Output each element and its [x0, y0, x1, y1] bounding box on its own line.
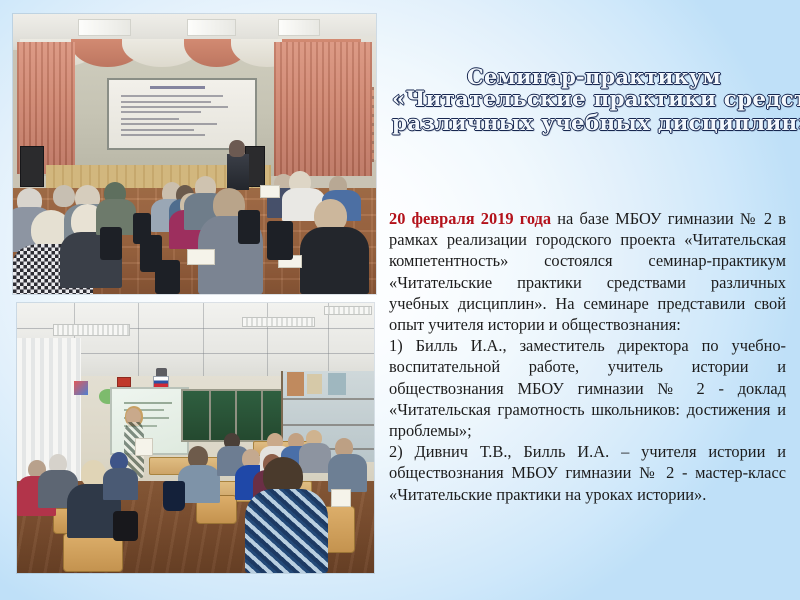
photo-assembly-hall-seminar	[13, 14, 376, 294]
body-paragraph-2: 1) Билль И.А., заместитель директора по …	[389, 335, 786, 441]
classroom-bag-2	[113, 511, 138, 541]
hall-projection-screen	[107, 78, 256, 149]
body-paragraph-3: 2) Дивнич Т.В., Билль И.А. – учителя ист…	[389, 441, 786, 505]
presentation-slide: Семинар-практикум «Читательские практики…	[0, 0, 800, 600]
hall-loudspeaker-left	[20, 146, 44, 187]
photo-classroom-masterclass	[17, 303, 374, 573]
hall-podium	[227, 154, 249, 190]
hall-presenter	[229, 140, 245, 157]
classroom-teacher-handout	[135, 438, 153, 456]
classroom-bag	[163, 481, 184, 511]
title-line-3: различных учебных дисциплин»	[392, 113, 796, 135]
body-paragraph-1: 20 февраля 2019 года на базе МБОУ гимназ…	[389, 208, 786, 335]
title-line-1: Семинар-практикум	[392, 66, 796, 87]
event-date: 20 февраля 2019 года	[389, 209, 551, 228]
slide-body-text: 20 февраля 2019 года на базе МБОУ гимназ…	[389, 208, 786, 505]
hall-curtain-right	[274, 42, 372, 176]
classroom-wall-decor	[74, 381, 88, 395]
slide-title: Семинар-практикум «Читательские практики…	[392, 66, 796, 136]
title-line-2: «Читательские практики средствами	[392, 89, 796, 111]
